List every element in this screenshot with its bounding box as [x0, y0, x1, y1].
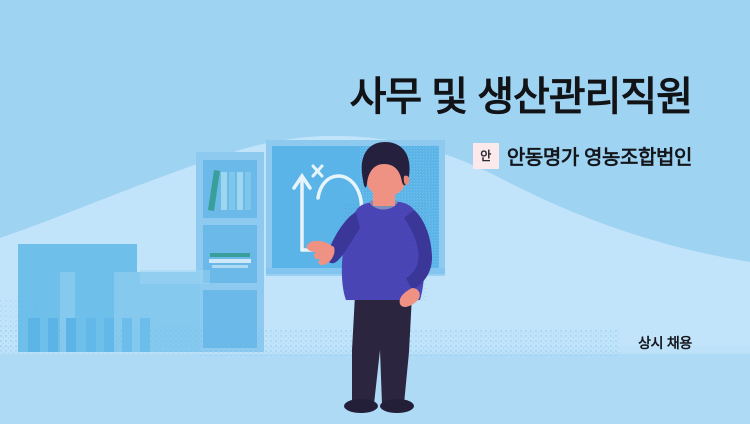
person-shoe-left	[344, 399, 378, 413]
illustration-canvas	[0, 0, 750, 424]
bookshelf	[196, 152, 264, 352]
job-posting-banner: 사무 및 생산관리직원 안 안동명가 영농조합법인 상시 채용	[0, 0, 750, 424]
books-middle-shelf	[209, 253, 251, 268]
person-legs	[352, 295, 412, 404]
floor-texture	[200, 330, 620, 356]
person-shoe-right	[380, 399, 414, 413]
left-spray	[0, 300, 40, 350]
